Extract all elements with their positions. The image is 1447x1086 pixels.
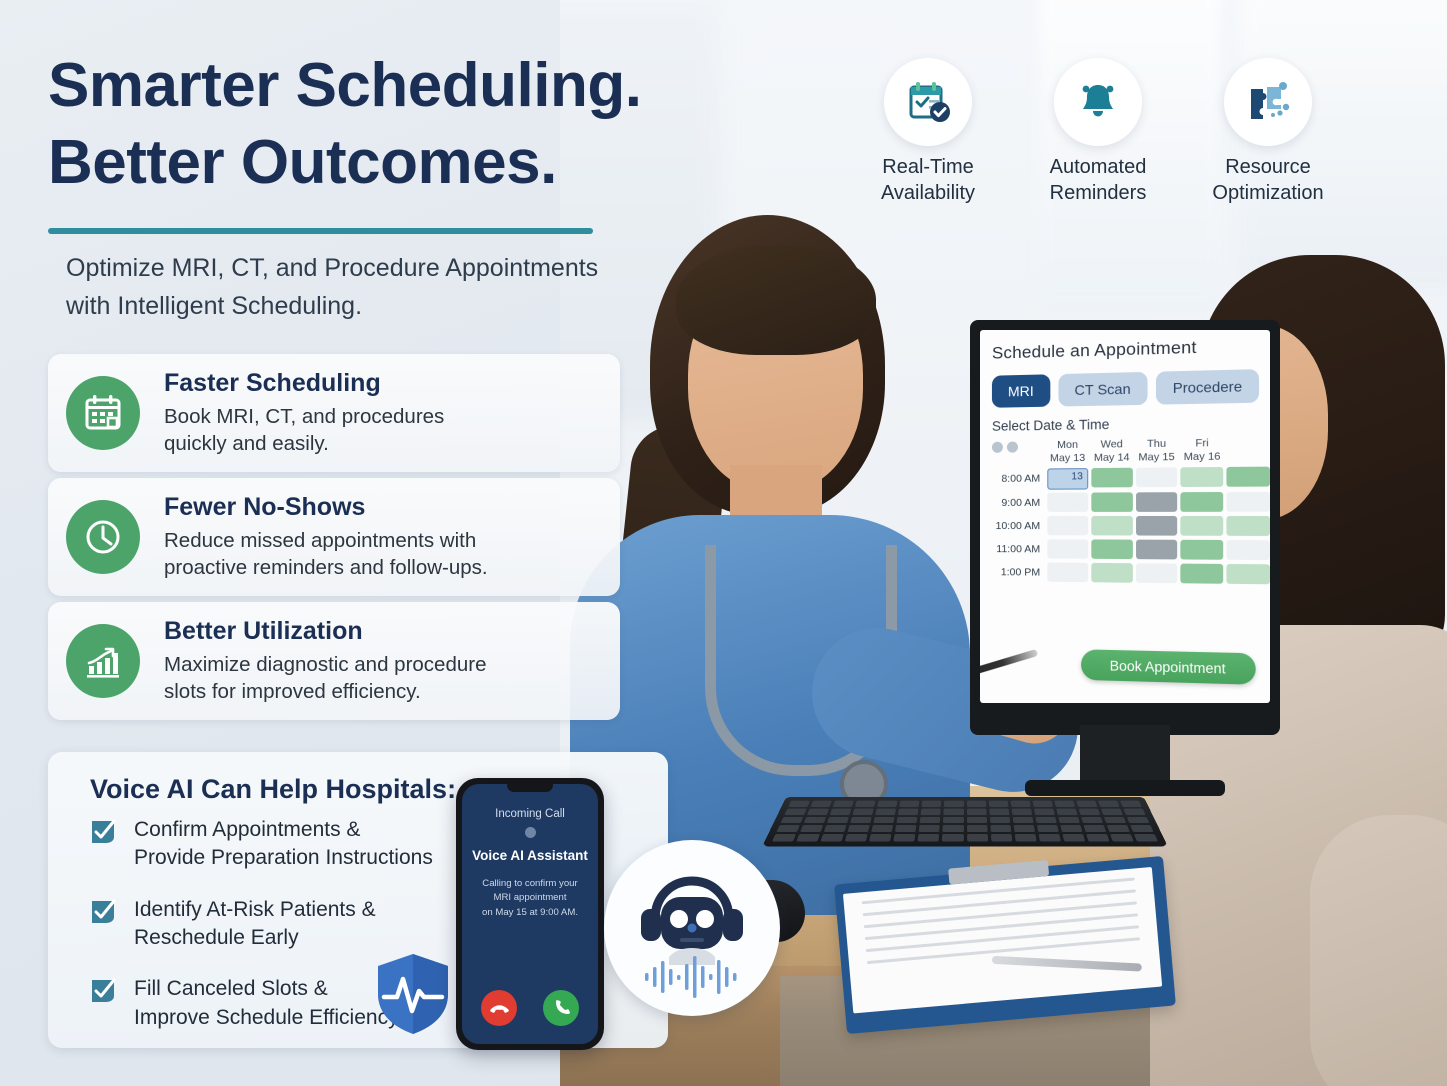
accept-call-button[interactable] (543, 990, 579, 1026)
desktop-monitor: Schedule an Appointment MRI CT Scan Proc… (970, 320, 1280, 735)
robot-assistant-icon (621, 857, 763, 999)
time-label-0800: 8:00 AM (992, 469, 1044, 490)
incoming-call-label: Incoming Call (495, 808, 565, 820)
puzzle-icon (1243, 77, 1293, 127)
badge-icon-wrap (1224, 58, 1312, 146)
select-date-time-label: Select Date & Time (992, 414, 1270, 434)
page-subtitle: Optimize MRI, CT, and Procedure Appointm… (66, 250, 636, 325)
clock-icon (82, 516, 124, 558)
slot-wed-0900[interactable] (1091, 493, 1132, 513)
card-title: Better Utilization (164, 617, 486, 646)
page-title: Smarter Scheduling. Better Outcomes. (48, 48, 748, 202)
slot-wed-0800[interactable] (1091, 468, 1132, 488)
badge-real-time-availability: Real-TimeAvailability (860, 58, 996, 206)
keyboard-keys (772, 801, 1158, 842)
list-item-text: Fill Canceled Slots &Improve Schedule Ef… (134, 975, 403, 1032)
call-message: Calling to confirm your MRI appointment … (472, 877, 588, 920)
clipboard (834, 856, 1176, 1034)
accent-rule (48, 228, 593, 234)
bell-icon (1073, 77, 1123, 127)
phone-accept-icon (552, 999, 571, 1018)
badge-automated-reminders: AutomatedReminders (1030, 58, 1166, 206)
subtitle-line-2: with Intelligent Scheduling. (66, 288, 636, 326)
infographic-canvas: Schedule an Appointment MRI CT Scan Proc… (0, 0, 1447, 1086)
slot-fri-1300[interactable] (1181, 564, 1224, 584)
calendar-icon (82, 392, 124, 434)
scheduling-app: Schedule an Appointment MRI CT Scan Proc… (980, 330, 1270, 703)
badge-label: AutomatedReminders (1030, 155, 1166, 206)
monitor-base (1025, 780, 1225, 796)
day-header-extra (1227, 436, 1270, 464)
avatar (525, 827, 536, 838)
smartphone: Incoming Call Voice AI Assistant Calling… (456, 778, 604, 1050)
slot-mon-1000[interactable] (1047, 516, 1088, 535)
slot-fri-1100[interactable] (1181, 540, 1224, 560)
badge-icon-wrap (884, 58, 972, 146)
badge-icon-wrap (1054, 58, 1142, 146)
slot-thu-0900[interactable] (1136, 492, 1178, 512)
clipboard-paper (843, 867, 1162, 1014)
call-actions (462, 990, 598, 1026)
slot-fri-1000[interactable] (1181, 516, 1224, 536)
tab-procedure[interactable]: Procedere (1156, 369, 1260, 405)
slot-fri-0900[interactable] (1181, 492, 1224, 512)
slot-extra-1100[interactable] (1227, 540, 1270, 560)
badge-resource-optimization: ResourceOptimization (1200, 58, 1336, 206)
slot-wed-1000[interactable] (1091, 516, 1132, 536)
caller-name: Voice AI Assistant (472, 848, 588, 863)
slot-mon-1300[interactable] (1047, 563, 1088, 583)
phone-screen[interactable]: Incoming Call Voice AI Assistant Calling… (462, 784, 598, 1044)
check-icon (90, 819, 116, 845)
book-appointment-button[interactable]: Book Appointment (1081, 649, 1256, 684)
day-header-fri: FriMay 16 (1181, 437, 1224, 465)
monitor-stand (1080, 725, 1170, 785)
check-icon (90, 978, 116, 1004)
slot-mon-0800[interactable]: 13 (1047, 468, 1088, 490)
day-header-wed: WedMay 14 (1091, 438, 1132, 465)
pointing-pen (980, 649, 1038, 690)
card-icon-wrap (66, 500, 140, 574)
day-header-mon: MonMay 13 (1047, 439, 1088, 466)
slot-thu-1000[interactable] (1136, 516, 1178, 536)
slot-mon-1100[interactable] (1047, 540, 1088, 560)
slot-thu-0800[interactable] (1136, 468, 1178, 488)
headline-line-2: Better Outcomes. (48, 125, 748, 202)
time-label-1100: 11:00 AM (992, 539, 1044, 559)
card-description: Maximize diagnostic and procedureslots f… (164, 651, 486, 705)
slot-mon-0900[interactable] (1047, 493, 1088, 512)
slot-thu-1300[interactable] (1136, 563, 1178, 583)
slot-extra-1000[interactable] (1227, 516, 1270, 536)
card-text: Fewer No-Shows Reduce missed appointment… (164, 493, 488, 581)
card-text: Faster Scheduling Book MRI, CT, and proc… (164, 369, 444, 457)
card-title: Faster Scheduling (164, 369, 444, 398)
bar-chart-growth-icon (82, 640, 124, 682)
list-item-text: Identify At-Risk Patients &Reschedule Ea… (134, 896, 376, 953)
slot-thu-1100[interactable] (1136, 540, 1178, 560)
monitor-screen[interactable]: Schedule an Appointment MRI CT Scan Proc… (980, 330, 1270, 703)
slot-fri-0800[interactable] (1181, 467, 1224, 487)
benefit-card-better-utilization: Better Utilization Maximize diagnostic a… (48, 602, 620, 720)
card-text: Better Utilization Maximize diagnostic a… (164, 617, 486, 705)
headline-line-1: Smarter Scheduling. (48, 48, 748, 125)
time-label-1000: 10:00 AM (992, 516, 1044, 536)
tab-ct-scan[interactable]: CT Scan (1058, 372, 1147, 407)
calendar-corner (992, 439, 1044, 466)
phone-decline-icon (490, 999, 509, 1018)
benefit-card-fewer-no-shows: Fewer No-Shows Reduce missed appointment… (48, 478, 620, 596)
nurse-hair-front (676, 245, 876, 355)
patient-arm (1310, 815, 1447, 1086)
list-item-text: Confirm Appointments &Provide Preparatio… (134, 816, 433, 873)
card-title: Fewer No-Shows (164, 493, 488, 522)
voice-ai-title: Voice AI Can Help Hospitals: (90, 774, 456, 805)
slot-extra-0900[interactable] (1227, 492, 1270, 512)
health-shield-icon (374, 952, 452, 1036)
slot-extra-1300[interactable] (1227, 564, 1270, 584)
slot-wed-1100[interactable] (1091, 540, 1132, 560)
badge-label: Real-TimeAvailability (860, 155, 996, 206)
app-title: Schedule an Appointment (992, 335, 1270, 363)
availability-calendar[interactable]: MonMay 13 WedMay 14 ThuMay 15 FriMay 16 … (992, 436, 1270, 585)
card-description: Book MRI, CT, and proceduresquickly and … (164, 403, 444, 457)
phone-notch (507, 784, 553, 792)
keyboard[interactable] (762, 797, 1168, 846)
tab-mri[interactable]: MRI (992, 374, 1050, 407)
benefit-card-faster-scheduling: Faster Scheduling Book MRI, CT, and proc… (48, 354, 620, 472)
card-description: Reduce missed appointments withproactive… (164, 527, 488, 581)
badge-label: ResourceOptimization (1200, 155, 1336, 206)
modality-tabs: MRI CT Scan Procedere (992, 369, 1270, 408)
slot-extra-0800[interactable] (1227, 467, 1270, 487)
card-icon-wrap (66, 624, 140, 698)
check-icon (90, 899, 116, 925)
time-label-1300: 1:00 PM (992, 562, 1044, 583)
card-icon-wrap (66, 376, 140, 450)
subtitle-line-1: Optimize MRI, CT, and Procedure Appointm… (66, 250, 636, 288)
voice-ai-robot-badge (604, 840, 780, 1016)
time-label-0900: 9:00 AM (992, 493, 1044, 513)
day-header-thu: ThuMay 15 (1136, 437, 1178, 465)
slot-wed-1300[interactable] (1091, 563, 1132, 583)
calendar-check-icon (902, 76, 954, 128)
feature-badges: Real-TimeAvailability AutomatedReminders (860, 58, 1360, 206)
decline-call-button[interactable] (481, 990, 517, 1026)
